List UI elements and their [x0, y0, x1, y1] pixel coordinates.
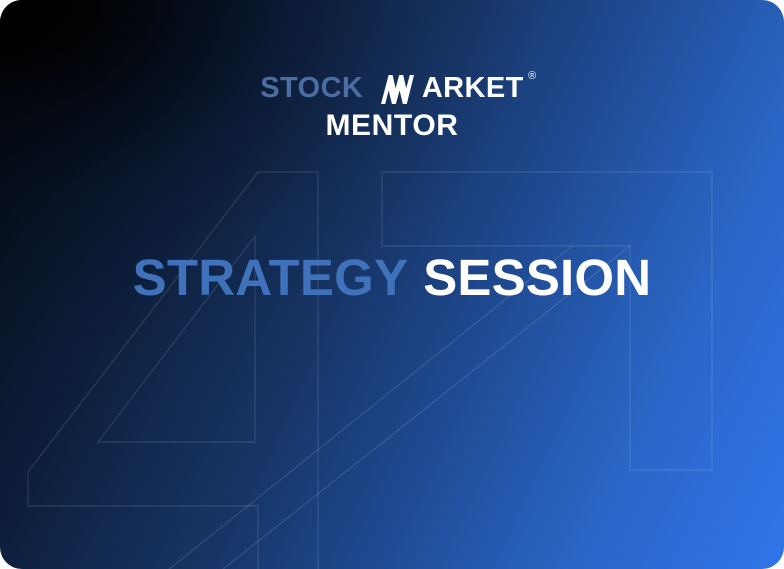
page-title: STRATEGYSESSION: [0, 252, 784, 303]
brand-market-lockup: ARKET ®: [381, 74, 524, 103]
brand-word-stock: STOCK: [260, 72, 363, 104]
brand-logo: STOCK ARKET ® MENTOR: [0, 74, 784, 141]
title-word-strategy: STRATEGY: [133, 249, 409, 306]
title-word-session: SESSION: [423, 249, 651, 306]
watermark-digit-7: [382, 172, 712, 470]
brand-word-arket: ARKET: [422, 72, 524, 104]
strategy-session-card: STOCK ARKET ® MENTOR STRATEGYSESSION: [0, 0, 784, 569]
chart-zigzag-m-icon: [381, 75, 421, 104]
brand-word-mentor: MENTOR: [0, 111, 784, 141]
watermark-digit-4: [28, 172, 318, 569]
registered-trademark-icon: ®: [528, 71, 537, 82]
brand-logo-line-1: STOCK ARKET ®: [260, 74, 523, 103]
